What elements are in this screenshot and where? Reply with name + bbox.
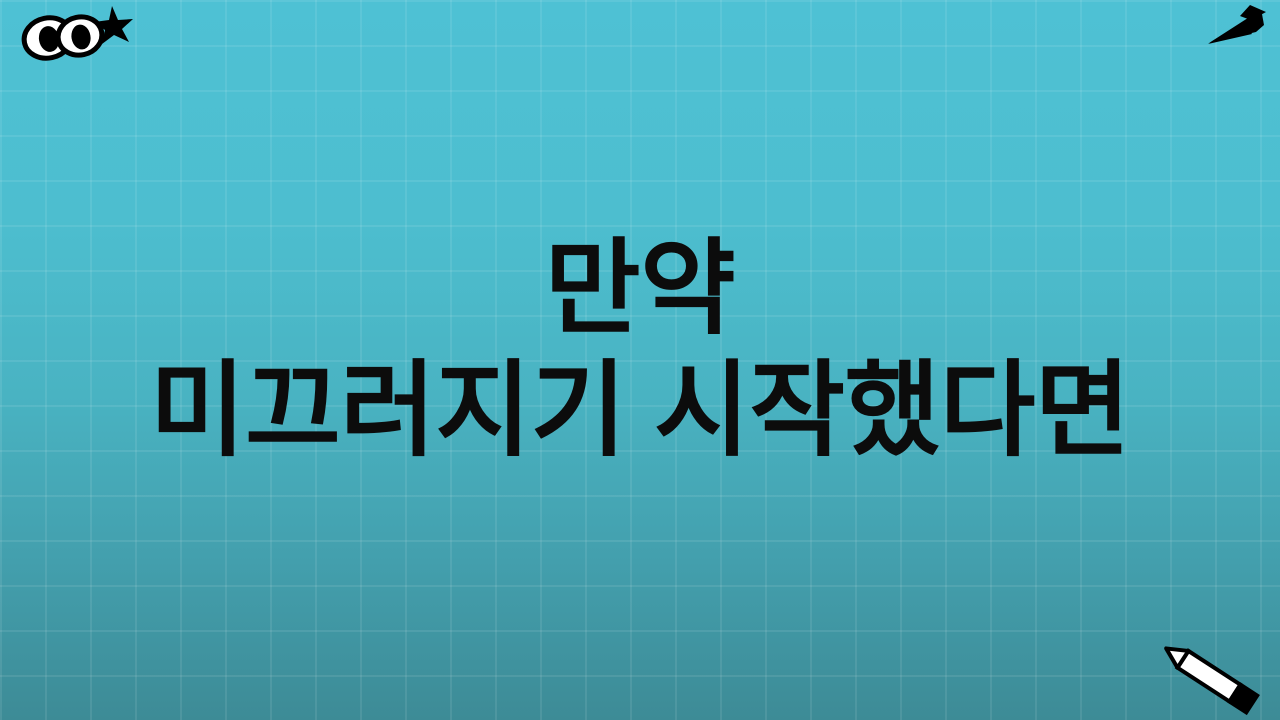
grid-background: [0, 0, 1280, 720]
headline-block: 만약 미끄러지기 시작했다면: [0, 0, 1280, 720]
headline-line-1: 만약: [545, 231, 735, 347]
pencil-svg: [1152, 638, 1272, 716]
pencil-icon: [1152, 638, 1272, 716]
arrow-cursor-icon: [1204, 2, 1270, 52]
googly-eyes-star-logo: [8, 2, 138, 72]
slide-canvas: 만약 미끄러지기 시작했다면: [0, 0, 1280, 720]
arrow-cursor-svg: [1204, 2, 1270, 52]
eyes-icon: [20, 13, 105, 63]
logo-svg: [8, 2, 138, 72]
headline-line-2: 미끄러지기 시작했다면: [150, 353, 1130, 469]
